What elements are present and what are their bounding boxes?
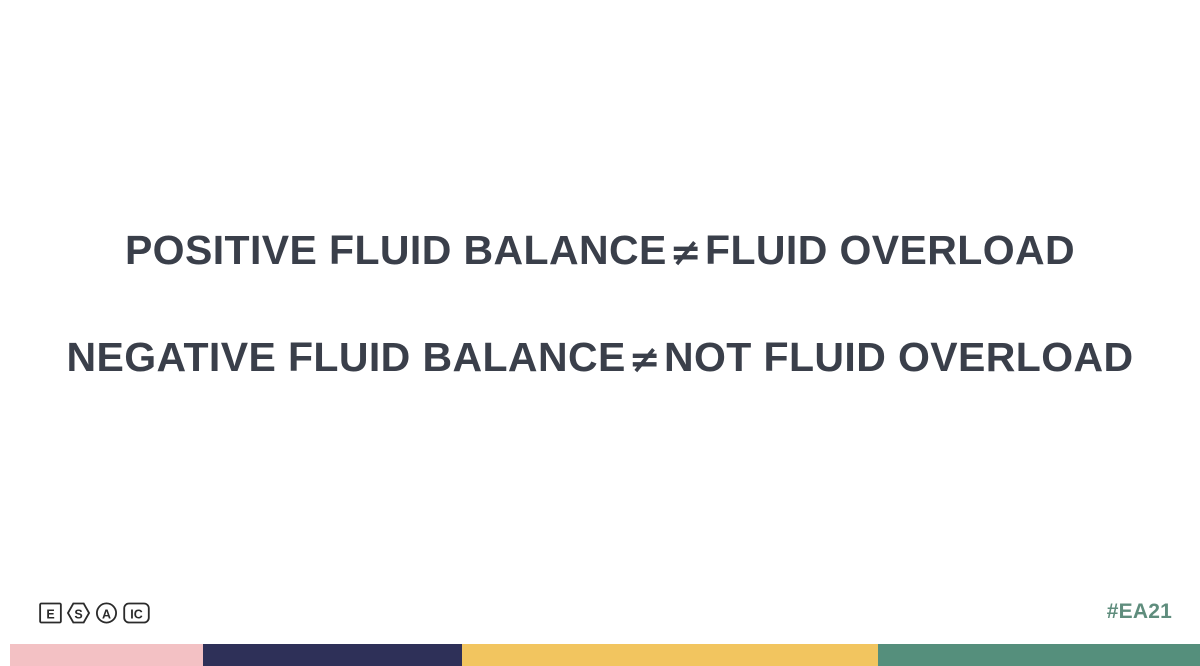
- svg-text:A: A: [102, 607, 111, 621]
- logo-letters-ic-rounded-rect-icon: IC: [122, 601, 151, 625]
- headline-line-1-prefix: POSITIVE FLUID BALANCE: [125, 227, 667, 273]
- slide-canvas: POSITIVE FLUID BALANCE≠FLUID OVERLOAD NE…: [0, 0, 1200, 666]
- headline-line-2-prefix: NEGATIVE FLUID BALANCE: [66, 334, 625, 380]
- esaic-logo: E S A IC: [38, 600, 151, 626]
- headline-line-2: NEGATIVE FLUID BALANCE≠NOT FLUID OVERLOA…: [0, 335, 1200, 380]
- event-hashtag: #EA21: [1107, 600, 1172, 624]
- bottom-color-bar: [10, 644, 1200, 666]
- color-bar-segment-pink: [10, 644, 203, 666]
- headline-line-1: POSITIVE FLUID BALANCE≠FLUID OVERLOAD: [0, 228, 1200, 273]
- color-bar-segment-green: [878, 644, 1200, 666]
- svg-text:E: E: [46, 607, 54, 621]
- svg-text:IC: IC: [130, 607, 142, 621]
- headline-line-2-suffix: NOT FLUID OVERLOAD: [664, 334, 1134, 380]
- color-bar-segment-navy: [203, 644, 462, 666]
- headline-block: POSITIVE FLUID BALANCE≠FLUID OVERLOAD NE…: [0, 228, 1200, 380]
- logo-letter-s-hexagon-icon: S: [66, 601, 91, 625]
- svg-text:S: S: [74, 607, 82, 621]
- logo-letter-e-square-icon: E: [38, 601, 63, 625]
- headline-line-1-suffix: FLUID OVERLOAD: [705, 227, 1075, 273]
- color-bar-segment-yellow: [462, 644, 878, 666]
- not-equal-icon-1: ≠: [667, 230, 705, 274]
- not-equal-icon-2: ≠: [626, 337, 664, 381]
- logo-letter-a-circle-icon: A: [94, 601, 119, 625]
